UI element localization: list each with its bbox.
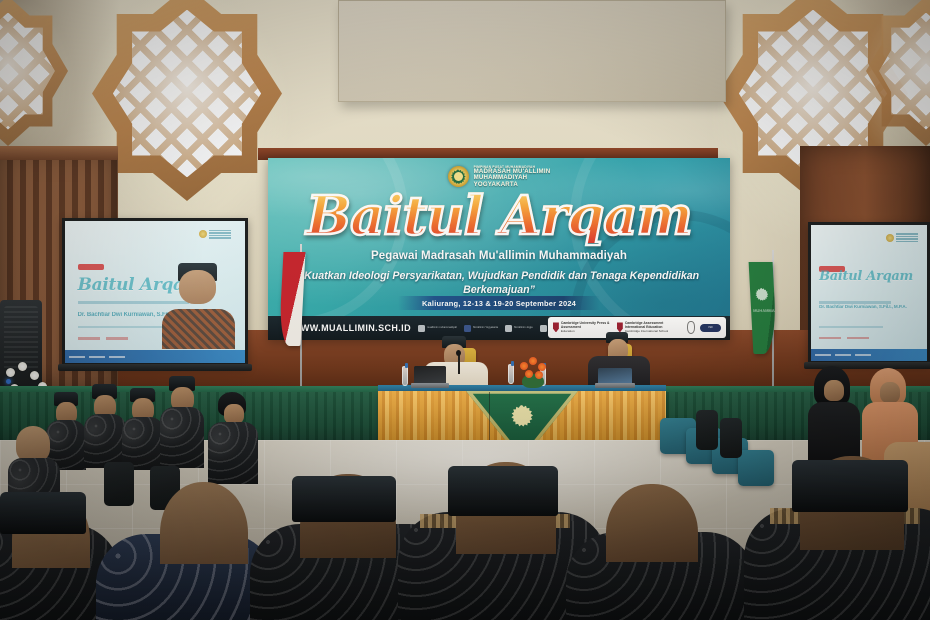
water-bottle [402,366,408,386]
slide-portrait [159,266,238,348]
laptop-right [598,368,632,388]
lattice-window-far-right [866,0,930,146]
water-bottle [508,364,514,384]
projector-screen-right: Baitul Arqam Dr. Bachtiar Dwi Kurniawan,… [808,222,930,364]
slide-meta-chips-right [819,337,869,340]
peci-cap-icon [292,476,396,522]
slide-right: Baitul Arqam Dr. Bachtiar Dwi Kurniawan,… [811,225,927,361]
audience-person [122,388,164,470]
lattice-window-far-left [0,0,68,146]
instagram-icon: muallimin muhammadiyah [418,325,457,332]
flag-label: MUHAMMADIYAH [753,308,773,313]
slide-logo-icon [199,230,231,239]
table-flower-vase [516,356,550,388]
wall-panel [338,0,726,102]
peci-cap-icon [792,460,908,512]
banner-date: Kaliurang, 12-13 & 19-20 September 2024 [422,299,576,308]
banner-subtitle: Pegawai Madrasah Mu'allimin Muhammadiyah [268,250,730,262]
projector-surface-right: Baitul Arqam Dr. Bachtiar Dwi Kurniawan,… [811,225,927,361]
projector-screen-left: Baitul Arqam Dr. Bachtiar Dwi Kurniawan,… [62,218,248,366]
banner-website-url: WWW.MUALLIMIN.SCH.ID [292,323,411,333]
slide-footer-left [65,350,245,363]
audience-person [84,384,126,468]
slide-meta-chips [78,337,128,340]
slide-title-right: Baitul Arqam [819,269,913,284]
slide-logo-icon-right [886,233,918,242]
microphone [458,354,460,374]
laptop-left [414,366,446,388]
flag-sun-emblem-icon [755,288,769,301]
projector-surface-left: Baitul Arqam Dr. Bachtiar Dwi Kurniawan,… [65,221,245,363]
slide-speaker-right: Dr. Bachtiar Dwi Kurniawan, S.Fil.I., M.… [819,304,907,309]
audience-person [160,376,204,468]
chair [738,450,774,486]
peci-cap-icon [448,466,558,516]
accreditation-seal-icon [687,321,696,334]
twitter-icon: Mu'allimin Jogja [505,325,532,332]
partner-pill-badge: ISO [700,324,721,332]
slide-badge [78,264,104,270]
event-banner: PIMPINAN PUSAT MUHAMMADIYAH MADRASAH MU'… [268,158,730,340]
slide-left: Baitul Arqam Dr. Bachtiar Dwi Kurniawan,… [65,221,245,363]
wood-slat-header-left [0,146,118,160]
peci-cap-icon [0,492,86,534]
audience-person [208,392,258,482]
speaker-grill [4,306,38,370]
banner-title: Baitul Arqam [268,190,730,243]
slide-footer-right [811,349,927,361]
photo-scene: Baitul Arqam Dr. Bachtiar Dwi Kurniawan,… [0,0,930,620]
facebook-icon: Mu'allimin Yogyakarta [464,325,498,332]
banner-tagline: “Kuatkan Ideologi Persyarikatan, Wujudka… [296,270,702,298]
slide-meta-bar-right [819,326,883,328]
lattice-window-left [92,0,282,201]
muhammadiyah-sun-icon [511,405,533,427]
audience-person [808,366,860,468]
banner-date-band: Kaliurang, 12-13 & 19-20 September 2024 [398,296,600,310]
